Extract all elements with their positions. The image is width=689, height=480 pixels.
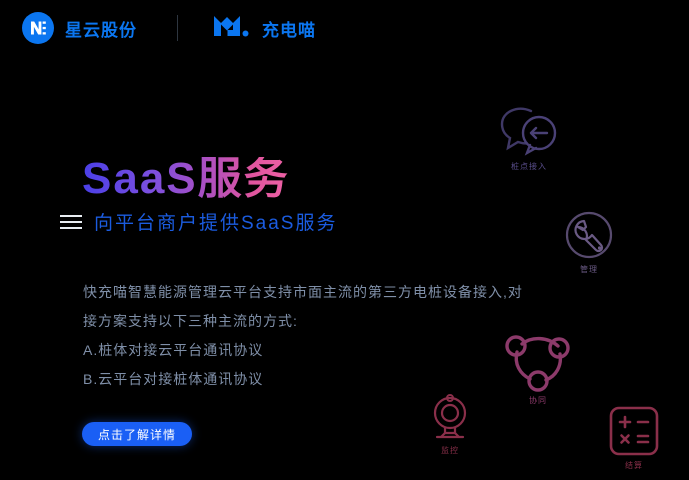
page-subtitle: 向平台商户提供SaaS服务 [94,208,337,235]
brand-xingyun[interactable]: 星云股份 [22,12,137,44]
hamburger-icon [60,215,82,229]
camera-monitor-icon [428,392,472,442]
brand-chongdianmiao[interactable]: 充电喵 [212,13,316,44]
wrench-circle-icon [563,209,615,261]
page-header: 星云股份 充电喵 [0,0,689,56]
calculator-icon [608,405,660,457]
header-divider [177,15,178,41]
feature-collaboration: 协同 [502,326,574,406]
learn-more-button[interactable]: 点击了解详情 [82,422,192,446]
brand-chongdianmiao-label: 充电喵 [262,16,316,41]
subtitle-row: 向平台商户提供SaaS服务 [60,208,337,235]
ne-monogram-circle-icon [22,12,54,44]
network-nodes-icon [502,326,574,392]
feature-settlement: 结算 [608,405,660,471]
feature-management-label: 管理 [580,264,598,275]
feature-monitoring: 监控 [428,392,472,456]
feature-collaboration-label: 协同 [529,395,547,406]
feature-station-access: 桩点接入 [497,102,561,172]
charging-cat-mark-icon [212,13,254,44]
page-title: SaaS服务 [82,157,290,201]
feature-station-access-label: 桩点接入 [511,161,547,172]
description-line-1: 快充喵智慧能源管理云平台支持市面主流的第三方电桩设备接入,对 [83,278,583,307]
chat-bubbles-arrow-icon [497,102,561,158]
feature-management: 管理 [563,209,615,275]
feature-monitoring-label: 监控 [441,445,459,456]
feature-settlement-label: 结算 [625,460,643,471]
brand-xingyun-label: 星云股份 [65,16,137,41]
